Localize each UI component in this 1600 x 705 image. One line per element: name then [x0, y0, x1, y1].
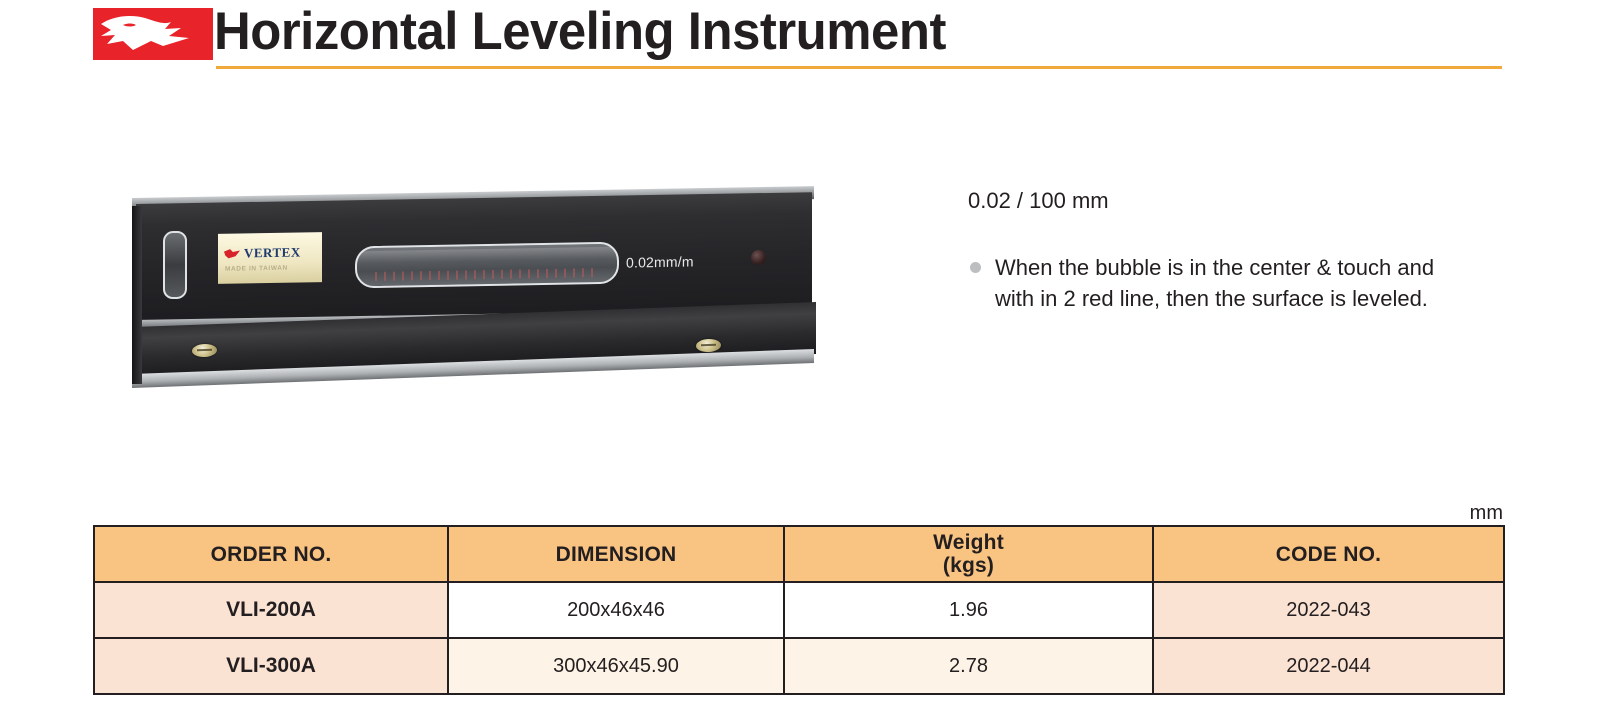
cell-weight: 1.96	[784, 582, 1153, 638]
page-header: Horizontal Leveling Instrument	[0, 0, 1600, 80]
cell-order-no: VLI-200A	[94, 582, 448, 638]
column-header-code-no: CODE NO.	[1153, 526, 1504, 582]
table-row: VLI-200A 200x46x46 1.96 2022-043	[94, 582, 1504, 638]
table-row: VLI-300A 300x46x45.90 2.78 2022-044	[94, 638, 1504, 694]
cell-weight: 2.78	[784, 638, 1153, 694]
vial-graduations	[375, 268, 599, 281]
accuracy-spec: 0.02 / 100 mm	[968, 186, 1448, 216]
brand-label-text: VERTEX	[244, 244, 301, 261]
product-info-panel: 0.02 / 100 mm When the bubble is in the …	[968, 186, 1448, 314]
table-unit-label: mm	[1320, 502, 1503, 525]
column-header-dimension: DIMENSION	[448, 526, 784, 582]
page-title: Horizontal Leveling Instrument	[214, 2, 946, 62]
vial-sheen	[357, 247, 617, 264]
cell-code-no: 2022-043	[1153, 582, 1504, 638]
table-header-row: ORDER NO. DIMENSION Weight (kgs) CODE NO…	[94, 526, 1504, 582]
column-header-order-no: ORDER NO.	[94, 526, 448, 582]
column-header-weight-line1: Weight	[786, 531, 1151, 554]
vertex-eagle-mark-icon	[224, 248, 240, 259]
origin-label-text: MADE IN TAIWAN	[225, 265, 288, 273]
bullet-icon	[970, 262, 981, 273]
product-brand-label: VERTEX MADE IN TAIWAN	[218, 232, 322, 284]
column-header-weight: Weight (kgs)	[784, 526, 1153, 582]
vertex-eagle-logo	[93, 8, 213, 60]
cell-code-no: 2022-044	[1153, 638, 1504, 694]
body-accuracy-marking: 0.02mm/m	[626, 253, 694, 270]
product-photo-leveling-instrument: VERTEX MADE IN TAIWAN 0.02mm/m	[118, 196, 830, 402]
usage-note-text: When the bubble is in the center & touch…	[995, 255, 1434, 311]
column-header-weight-line2: (kgs)	[786, 554, 1151, 577]
specification-table: ORDER NO. DIMENSION Weight (kgs) CODE NO…	[93, 525, 1505, 695]
main-bubble-vial	[355, 242, 619, 289]
cell-dimension: 200x46x46	[448, 582, 784, 638]
level-left-end-cap	[132, 206, 142, 384]
cross-test-vial	[163, 231, 187, 299]
usage-note: When the bubble is in the center & touch…	[968, 252, 1448, 314]
cell-dimension: 300x46x45.90	[448, 638, 784, 694]
title-underline	[216, 66, 1502, 69]
cell-order-no: VLI-300A	[94, 638, 448, 694]
